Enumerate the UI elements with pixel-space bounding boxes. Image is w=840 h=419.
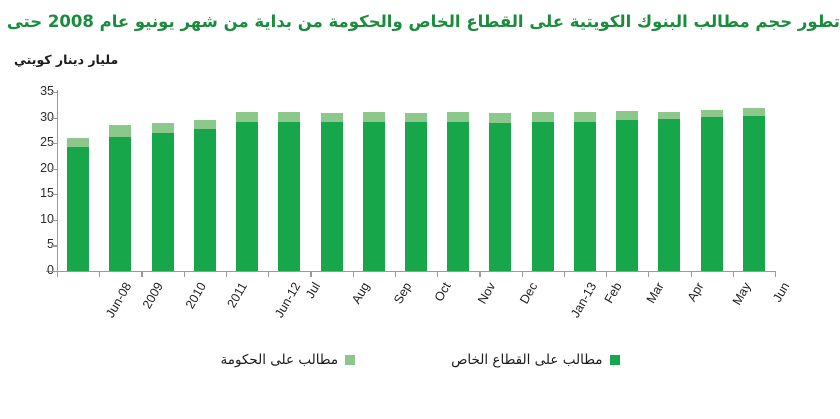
bar-segment-government[interactable] [574, 112, 596, 122]
bar-segment-government[interactable] [405, 113, 427, 122]
bar-column[interactable] [236, 112, 258, 271]
y-axis-tick-label: 35 [14, 84, 54, 98]
bar-segment-government[interactable] [616, 111, 638, 120]
x-axis-tick-label: Sep [391, 280, 414, 306]
bar-segment-private[interactable] [532, 122, 554, 271]
x-axis-tick-mark [691, 271, 692, 277]
bar-column[interactable] [574, 112, 596, 271]
legend-swatch-icon [345, 355, 355, 365]
chart-container: تطور حجم مطالب البنوك الكويتية على القطا… [0, 0, 840, 419]
bar-column[interactable] [532, 112, 554, 271]
x-axis-tick-mark [99, 271, 100, 277]
legend-item[interactable]: مطالب على الحكومة [220, 352, 355, 368]
bar-column[interactable] [109, 125, 131, 271]
bar-column[interactable] [321, 113, 343, 271]
y-axis-tick-label: 15 [14, 186, 54, 200]
chart-title: تطور حجم مطالب البنوك الكويتية على القطا… [0, 12, 840, 32]
bar-segment-private[interactable] [701, 117, 723, 271]
legend-swatch-icon [610, 355, 620, 365]
bar-segment-government[interactable] [363, 112, 385, 121]
x-axis-tick-label: Jun [770, 280, 792, 304]
x-axis-tick-mark [606, 271, 607, 277]
bar-segment-private[interactable] [489, 123, 511, 271]
x-axis-tick-label: Mar [644, 280, 667, 306]
bar-segment-government[interactable] [658, 112, 680, 119]
x-axis-tick-label: Jun-08 [103, 280, 134, 320]
bar-segment-government[interactable] [194, 120, 216, 130]
x-axis-tick-mark [310, 271, 311, 277]
bar-segment-private[interactable] [152, 133, 174, 271]
x-axis-tick-label: Aug [349, 280, 372, 306]
x-axis-tick-label: May [729, 280, 753, 307]
x-axis-tick-mark [522, 271, 523, 277]
x-axis-tick-mark [479, 271, 480, 277]
x-axis-tick-label: Nov [475, 280, 498, 306]
legend-label: مطالب على الحكومة [220, 352, 338, 368]
x-axis-tick-mark [141, 271, 142, 277]
bar-segment-private[interactable] [109, 137, 131, 271]
bar-column[interactable] [152, 123, 174, 271]
x-axis-tick-label: Dec [518, 280, 541, 306]
plot-area [57, 92, 775, 271]
bar-segment-government[interactable] [109, 125, 131, 137]
chart-legend: مطالب على القطاع الخاصمطالب على الحكومة [0, 352, 840, 368]
x-axis-tick-label: Jul [303, 280, 323, 301]
bar-segment-private[interactable] [278, 122, 300, 271]
bar-segment-government[interactable] [489, 113, 511, 122]
bar-column[interactable] [405, 113, 427, 271]
bar-segment-private[interactable] [321, 122, 343, 271]
bar-column[interactable] [701, 110, 723, 271]
bar-column[interactable] [489, 113, 511, 271]
x-axis-tick-mark [733, 271, 734, 277]
bar-segment-government[interactable] [743, 108, 765, 115]
x-axis-tick-label: Apr [685, 280, 707, 304]
bar-column[interactable] [616, 111, 638, 271]
bar-segment-government[interactable] [447, 112, 469, 122]
bar-segment-private[interactable] [363, 122, 385, 271]
bar-segment-government[interactable] [532, 112, 554, 122]
x-axis-tick-label: Jan-13 [568, 280, 599, 320]
x-axis-tick-mark [268, 271, 269, 277]
x-axis-tick-label: 2010 [182, 280, 208, 311]
bar-segment-government[interactable] [278, 112, 300, 122]
x-axis-tick-mark [564, 271, 565, 277]
bar-segment-private[interactable] [67, 147, 89, 271]
x-axis-tick-label: Feb [602, 280, 625, 306]
x-axis-tick-mark [648, 271, 649, 277]
bar-segment-private[interactable] [743, 116, 765, 271]
bar-segment-government[interactable] [321, 113, 343, 122]
y-axis-tick-label: 0 [14, 263, 54, 277]
bar-segment-private[interactable] [236, 122, 258, 271]
x-axis-tick-mark [226, 271, 227, 277]
bar-segment-government[interactable] [152, 123, 174, 133]
bar-segment-government[interactable] [701, 110, 723, 117]
y-axis-tick-label: 25 [14, 135, 54, 149]
x-axis-tick-label: Jun-12 [272, 280, 303, 320]
x-axis-tick-mark [775, 271, 776, 277]
bar-column[interactable] [658, 112, 680, 271]
x-axis-tick-label: 2011 [224, 280, 250, 310]
y-axis-tick-label: 5 [14, 237, 54, 251]
x-axis-tick-mark [57, 271, 58, 277]
bar-column[interactable] [67, 138, 89, 271]
x-axis-tick-mark [395, 271, 396, 277]
x-axis-tick-label: Oct [432, 280, 454, 304]
bar-segment-private[interactable] [194, 129, 216, 271]
bar-segment-private[interactable] [447, 122, 469, 271]
x-axis-tick-mark [184, 271, 185, 277]
bar-segment-private[interactable] [616, 120, 638, 271]
y-axis-tick-label: 20 [14, 161, 54, 175]
y-axis-tick-label: 30 [14, 110, 54, 124]
bar-column[interactable] [194, 120, 216, 271]
bar-column[interactable] [447, 112, 469, 271]
bar-column[interactable] [363, 112, 385, 271]
bar-segment-government[interactable] [67, 138, 89, 148]
x-axis-tick-label: 2009 [140, 280, 166, 311]
x-axis-tick-mark [437, 271, 438, 277]
bar-column[interactable] [278, 112, 300, 271]
bar-segment-private[interactable] [405, 122, 427, 271]
bar-segment-private[interactable] [574, 122, 596, 271]
y-axis-tick-label: 10 [14, 212, 54, 226]
x-axis-tick-mark [353, 271, 354, 277]
bar-segment-government[interactable] [236, 112, 258, 122]
y-axis-unit-label: مليار دينار كويتي [14, 52, 118, 67]
legend-item[interactable]: مطالب على القطاع الخاص [451, 352, 619, 368]
bar-column[interactable] [743, 108, 765, 271]
legend-label: مطالب على القطاع الخاص [451, 352, 602, 368]
bar-segment-private[interactable] [658, 119, 680, 271]
